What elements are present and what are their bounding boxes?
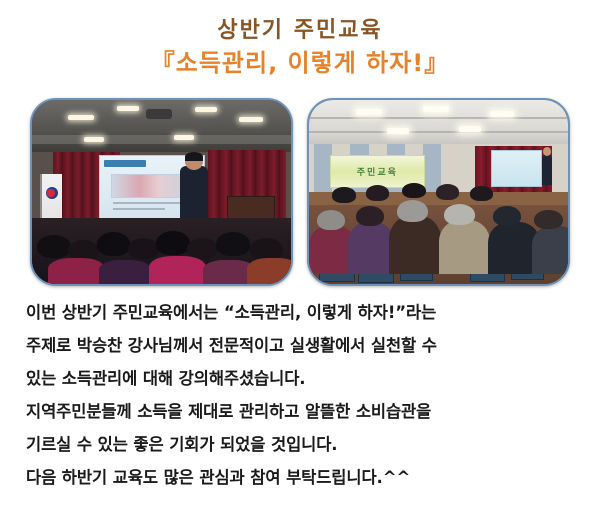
slide-text-line <box>113 202 181 204</box>
audience-head <box>317 210 345 231</box>
body-line: 기르실 수 있는 좋은 기회가 되었을 것입니다. <box>26 428 578 461</box>
ceiling-light <box>387 128 409 134</box>
page-title-block: 상반기 주민교육 『소득관리, 이렇게 하자!』 <box>0 0 600 78</box>
ceiling-beam <box>32 135 291 144</box>
audience-head <box>356 206 384 227</box>
page-title-line-1: 상반기 주민교육 <box>0 18 600 44</box>
audience-shoulder <box>247 258 291 284</box>
article-body: 이번 상반기 주민교육에서는 “소득관리, 이렇게 하자!”라는 주제로 박승찬… <box>26 296 578 494</box>
audience-head <box>250 238 284 261</box>
audience-head <box>493 206 521 227</box>
audience-head <box>366 185 389 200</box>
ceiling-light <box>459 126 481 132</box>
audience-shoulder <box>439 220 491 274</box>
audience-shoulder <box>389 216 441 274</box>
photo-gallery: 주민교육 <box>30 98 570 286</box>
audience-shoulder <box>348 222 395 274</box>
ceiling-light <box>174 135 194 140</box>
ceiling-light <box>117 106 139 111</box>
audience-head <box>444 204 475 226</box>
body-line: 이번 상반기 주민교육에서는 “소득관리, 이렇게 하자!”라는 <box>26 296 578 329</box>
audience-head <box>37 235 71 258</box>
seated-audience <box>309 181 568 284</box>
audience-head <box>97 232 131 256</box>
ceiling-light <box>239 117 263 122</box>
photo-left-lecture-hall <box>30 98 293 286</box>
audience-head <box>436 184 459 199</box>
body-line: 다음 하반기 교육도 많은 관심과 참여 부탁드립니다.^^ <box>26 461 578 494</box>
body-line: 주제로 박승찬 강사님께서 전문적이고 실생활에서 실천할 수 <box>26 329 578 362</box>
ceiling-light <box>356 109 382 115</box>
audience-head <box>216 232 250 256</box>
photo-right-content: 주민교육 <box>309 100 568 284</box>
slide-header-bar <box>104 160 145 167</box>
ceiling-projector <box>146 109 172 119</box>
ceiling-line <box>309 117 568 119</box>
audience-head <box>534 210 562 230</box>
ceiling-light <box>195 107 217 112</box>
ceiling-light <box>68 115 94 120</box>
ceiling-light <box>423 106 449 112</box>
audience-head <box>128 238 159 259</box>
audience-shoulder <box>532 226 568 273</box>
photo-right-lecture-hall: 주민교육 <box>307 98 570 286</box>
audience-head <box>470 186 493 200</box>
audience-shoulder <box>99 260 151 284</box>
audience-head <box>402 183 425 198</box>
audience-shoulder <box>149 256 206 284</box>
audience-head <box>156 231 190 255</box>
speaker-hair <box>185 152 203 161</box>
audience-head <box>397 200 428 223</box>
audience-shoulder <box>48 258 105 284</box>
audience-head <box>187 238 218 259</box>
page-title-line-2: 『소득관리, 이렇게 하자!』 <box>0 48 600 78</box>
body-line: 지역주민분들께 소득을 제대로 관리하고 알뜰한 소비습관을 <box>26 395 578 428</box>
audience-head <box>332 187 355 202</box>
slide-text-line <box>113 208 165 210</box>
body-line: 있는 소득관리에 대해 강의해주셨습니다. <box>26 362 578 395</box>
event-banner-text: 주민교육 <box>357 165 398 178</box>
ceiling-line <box>309 131 568 133</box>
photo-left-content <box>32 100 291 284</box>
ceiling-light <box>84 137 104 142</box>
audience-silhouettes <box>32 218 291 284</box>
ceiling-light <box>490 111 514 117</box>
korean-flag <box>40 174 63 222</box>
